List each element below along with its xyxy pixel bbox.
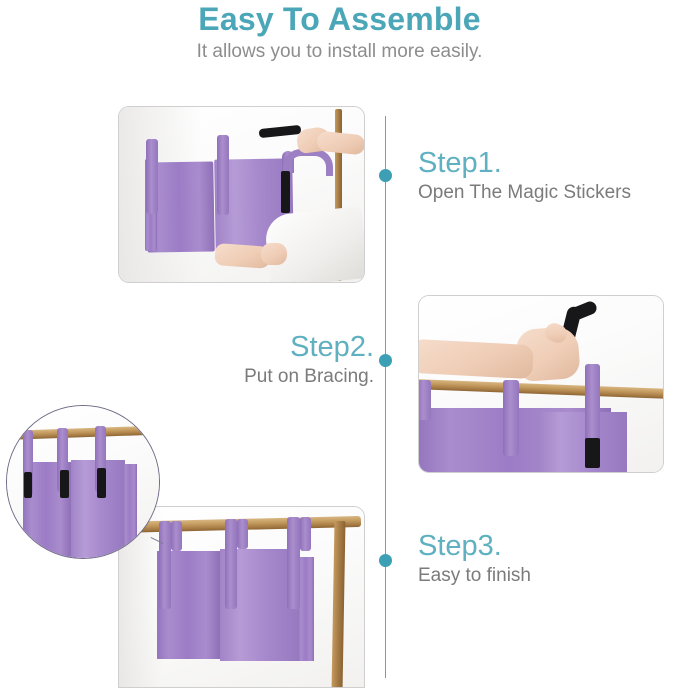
timeline-dot-step3 xyxy=(379,554,392,567)
hanging-strap-3-loop xyxy=(283,149,333,176)
page-subtitle: It allows you to install more easily. xyxy=(0,40,679,64)
timeline-dot-step2 xyxy=(379,354,392,367)
hanging-strap-1 xyxy=(146,139,158,214)
step-2-heading: Step2. xyxy=(244,330,374,364)
organizer-side-pocket xyxy=(298,557,314,661)
step-1-description: Open The Magic Stickers xyxy=(418,180,631,206)
organizer-body-right xyxy=(539,412,627,472)
hanging-strap-1 xyxy=(159,521,171,609)
hanging-strap-3b xyxy=(300,517,311,551)
step-1-photo xyxy=(118,106,365,283)
hanging-strap-2b xyxy=(237,519,248,549)
magnified-detail-scene xyxy=(7,406,159,558)
step-3-text: Step3. Easy to finish xyxy=(418,529,531,589)
step-1-heading: Step1. xyxy=(418,146,631,180)
organizer-side-pocket-zoom xyxy=(123,464,137,554)
step-3-heading: Step3. xyxy=(418,529,531,563)
step-1-scene xyxy=(119,107,364,282)
wrist-lower xyxy=(261,243,287,265)
step-2-photo xyxy=(418,295,664,473)
step-3-description: Easy to finish xyxy=(418,563,531,589)
page-title: Easy To Assemble xyxy=(0,1,679,37)
timeline-dot-step1 xyxy=(379,169,392,182)
hanging-strap-2 xyxy=(217,135,229,215)
step-2-description: Put on Bracing. xyxy=(244,364,374,390)
velcro-fastener-2 xyxy=(60,470,69,498)
magnified-detail-bubble xyxy=(6,405,160,559)
step-2-text: Step2. Put on Bracing. xyxy=(244,330,374,390)
infographic-canvas: Easy To Assemble It allows you to instal… xyxy=(0,0,679,678)
rail-strap-left xyxy=(419,380,431,420)
hanging-strap-3 xyxy=(287,517,300,609)
velcro-fastener-3 xyxy=(97,468,106,498)
forearm xyxy=(419,339,534,379)
rail-strap-middle xyxy=(503,380,519,456)
hanging-strap-2 xyxy=(225,519,237,609)
magic-sticker-attached xyxy=(281,171,290,213)
step-1-text: Step1. Open The Magic Stickers xyxy=(418,146,631,206)
timeline-line xyxy=(385,116,386,678)
step-2-scene xyxy=(419,296,663,472)
hanging-strap-1b xyxy=(171,521,182,551)
velcro-fastener-1 xyxy=(24,472,32,498)
velcro-fastener xyxy=(585,438,600,468)
